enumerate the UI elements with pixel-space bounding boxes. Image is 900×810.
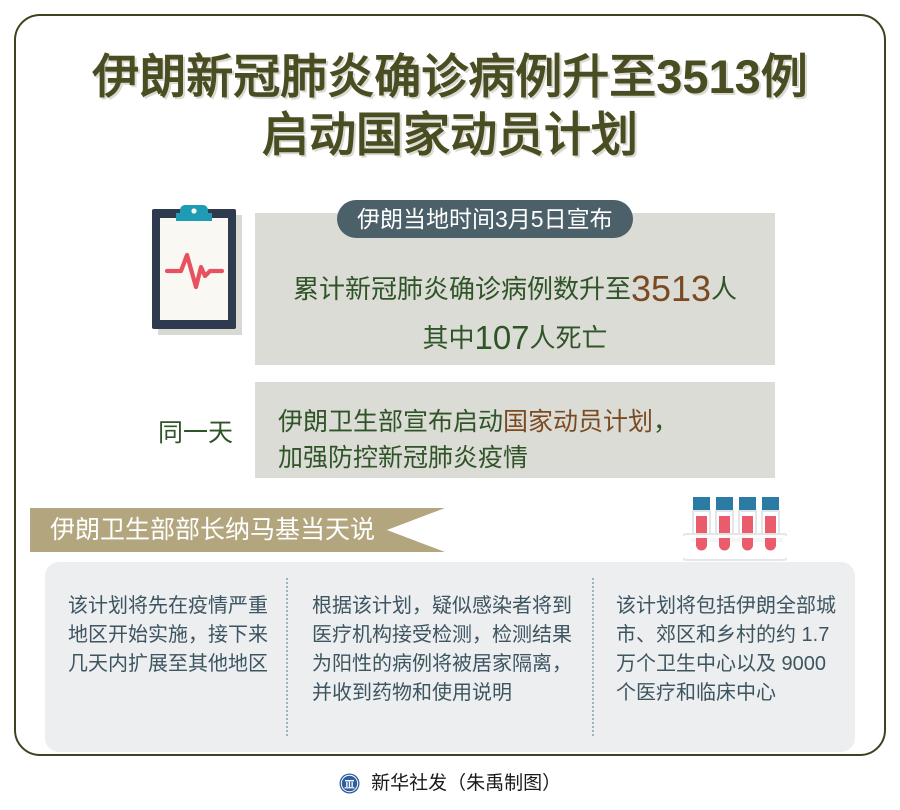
- footer-credit-row: 新华社发（朱禹制图）: [0, 768, 900, 800]
- footer-credit-text: 新华社发（朱禹制图）: [371, 773, 561, 794]
- infographic-page: 伊朗新冠肺炎确诊病例升至3513例 启动国家动员计划 伊朗当地时间3月5日宣布 …: [0, 0, 900, 810]
- column-divider-1: [286, 578, 288, 736]
- announcement-deaths-suffix: 人死亡: [530, 323, 608, 353]
- announcement-total-suffix: 人: [711, 274, 737, 304]
- sameday-line-1: 伊朗卫生部宣布启动国家动员计划，: [278, 402, 678, 438]
- detail-column-1: 该计划将先在疫情严重地区开始实施，接下来几天内扩展至其他地区: [68, 592, 268, 679]
- announcement-deaths-prefix: 其中: [422, 323, 474, 353]
- sameday-line-2: 加强防控新冠肺炎疫情: [278, 438, 528, 474]
- test-tubes-icon: [683, 497, 787, 565]
- title-line-2: 启动国家动员计划: [30, 106, 870, 164]
- sameday-line-1-suffix: ，: [653, 408, 678, 436]
- announcement-deaths-number: 107: [474, 319, 529, 356]
- announcement-total-prefix: 累计新冠肺炎确诊病例数升至: [293, 274, 631, 304]
- minister-quote-banner-label: 伊朗卫生部部长纳马基当天说: [50, 508, 375, 552]
- sameday-line-1-prefix: 伊朗卫生部宣布启动: [278, 408, 503, 436]
- sameday-line-1-highlight: 国家动员计划: [503, 408, 653, 436]
- xinhua-logo-icon: [339, 773, 360, 800]
- detail-column-2: 根据该计划，疑似感染者将到医疗机构接受检测，检测结果为阳性的病例将被居家隔离，并…: [312, 592, 577, 708]
- announcement-total-number: 3513: [631, 268, 711, 309]
- sameday-label: 同一天: [158, 413, 233, 449]
- announcement-total-line: 累计新冠肺炎确诊病例数升至3513人: [255, 268, 775, 310]
- announcement-deaths-line: 其中107人死亡: [255, 318, 775, 357]
- detail-column-3: 该计划将包括伊朗全部城市、郊区和乡村的约 1.7 万个卫生中心以及 9000 个…: [616, 592, 848, 708]
- column-divider-2: [592, 578, 594, 736]
- page-title: 伊朗新冠肺炎确诊病例升至3513例 启动国家动员计划: [30, 48, 870, 164]
- clipboard-ecg-icon: [152, 205, 244, 335]
- announcement-date-badge: 伊朗当地时间3月5日宣布: [337, 200, 633, 238]
- title-line-1: 伊朗新冠肺炎确诊病例升至3513例: [92, 50, 808, 103]
